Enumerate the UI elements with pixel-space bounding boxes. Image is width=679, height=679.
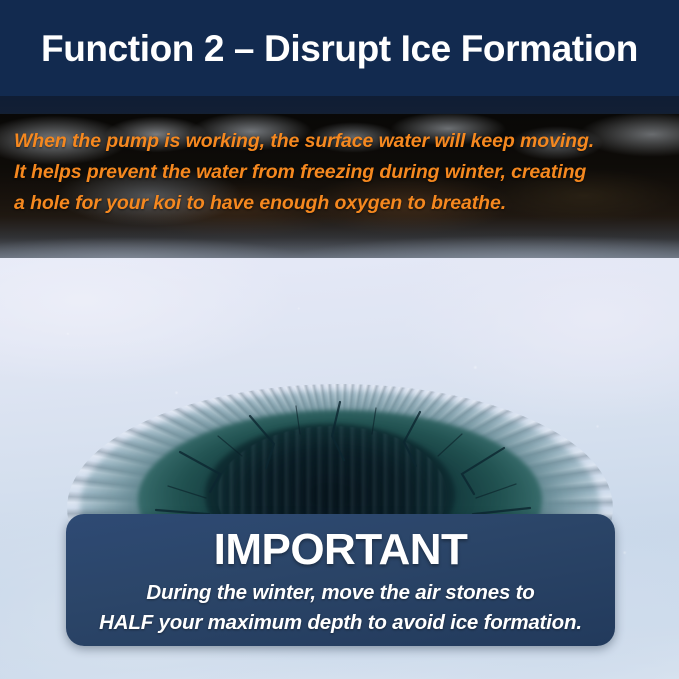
important-line-1: During the winter, move the air stones t… <box>99 578 582 608</box>
important-title: IMPORTANT <box>214 524 468 576</box>
infographic-root: Function 2 – Disrupt Ice Formation When … <box>0 0 679 679</box>
important-line-2: HALF your maximum depth to avoid ice for… <box>99 608 582 638</box>
important-callout: IMPORTANT During the winter, move the ai… <box>66 514 615 646</box>
important-body: During the winter, move the air stones t… <box>99 578 582 638</box>
page-title: Function 2 – Disrupt Ice Formation <box>41 30 638 67</box>
intro-paragraph: When the pump is working, the surface wa… <box>14 126 666 219</box>
header-band: Function 2 – Disrupt Ice Formation <box>0 0 679 96</box>
intro-line-3: a hole for your koi to have enough oxyge… <box>14 188 666 219</box>
snow-landscape-photo: When the pump is working, the surface wa… <box>0 96 679 258</box>
intro-line-1: When the pump is working, the surface wa… <box>14 126 666 157</box>
intro-line-2: It helps prevent the water from freezing… <box>14 157 666 188</box>
